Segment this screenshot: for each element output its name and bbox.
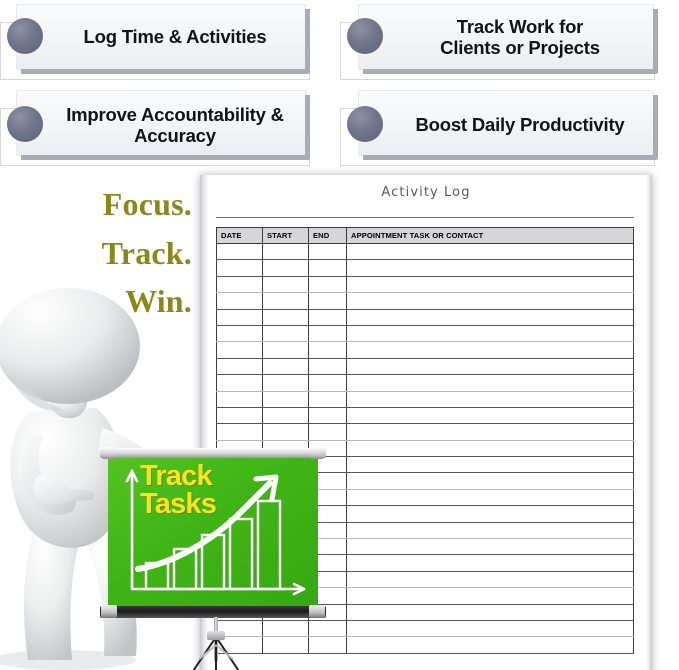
table-cell-date[interactable] — [217, 325, 263, 341]
table-cell-task[interactable] — [347, 588, 634, 604]
table-header-row: DATE START END APPOINTMENT TASK OR CONTA… — [217, 228, 634, 244]
table-cell-date[interactable] — [217, 342, 263, 358]
feature-card-log-time[interactable]: Log Time & Activities — [0, 0, 338, 85]
table-cell-date[interactable] — [217, 276, 263, 292]
activity-log-title: Activity Log — [200, 185, 652, 200]
table-cell-start[interactable] — [263, 358, 309, 374]
board-knob-right — [310, 447, 324, 459]
table-cell-date[interactable] — [217, 244, 263, 260]
table-cell-start[interactable] — [263, 375, 309, 391]
tripod-leg-center — [215, 637, 217, 670]
board-title-line1: Track — [140, 463, 316, 491]
table-cell-task[interactable] — [347, 358, 634, 374]
table-row[interactable] — [217, 342, 634, 358]
board-screen: Track Tasks — [108, 457, 318, 609]
table-cell-date[interactable] — [217, 358, 263, 374]
table-cell-date[interactable] — [217, 293, 263, 309]
table-cell-date[interactable] — [217, 407, 263, 423]
table-cell-task[interactable] — [347, 244, 634, 260]
table-row[interactable] — [217, 244, 634, 260]
table-cell-task[interactable] — [347, 424, 634, 440]
table-cell-task[interactable] — [347, 440, 634, 456]
tripod-brace-left — [215, 644, 233, 660]
table-row[interactable] — [217, 391, 634, 407]
tripod-stand — [196, 617, 236, 670]
table-row[interactable] — [217, 260, 634, 276]
table-cell-end[interactable] — [309, 293, 347, 309]
table-cell-task[interactable] — [347, 604, 634, 620]
table-cell-task[interactable] — [347, 309, 634, 325]
table-cell-date[interactable] — [217, 391, 263, 407]
table-cell-start[interactable] — [263, 244, 309, 260]
table-cell-end[interactable] — [309, 325, 347, 341]
feature-callout-grid: Log Time & Activities Track Work for Cli… — [0, 0, 679, 170]
column-header-task: APPOINTMENT TASK OR CONTACT — [347, 228, 634, 244]
table-cell-task[interactable] — [347, 276, 634, 292]
table-cell-start[interactable] — [263, 407, 309, 423]
bullet-circle-icon — [347, 106, 383, 142]
table-cell-date[interactable] — [217, 375, 263, 391]
column-header-date: DATE — [217, 228, 263, 244]
table-cell-task[interactable] — [347, 457, 634, 473]
bullet-circle-icon — [347, 18, 383, 54]
table-row[interactable] — [217, 358, 634, 374]
table-cell-end[interactable] — [309, 358, 347, 374]
table-cell-date[interactable] — [217, 309, 263, 325]
board-bottom-knob-right — [309, 605, 325, 618]
table-cell-start[interactable] — [263, 342, 309, 358]
table-row[interactable] — [217, 424, 634, 440]
feature-card-boost-productivity[interactable]: Boost Daily Productivity — [340, 86, 679, 170]
table-cell-task[interactable] — [347, 375, 634, 391]
feature-card-track-work[interactable]: Track Work for Clients or Projects — [340, 0, 679, 85]
table-cell-task[interactable] — [347, 489, 634, 505]
table-cell-task[interactable] — [347, 522, 634, 538]
slogan-line-focus: Focus. — [62, 180, 192, 229]
table-cell-date[interactable] — [217, 424, 263, 440]
slogan-line-track: Track. — [62, 229, 192, 278]
board-top-rail — [100, 448, 326, 458]
table-row[interactable] — [217, 293, 634, 309]
board-title-line2: Tasks — [140, 491, 316, 519]
slogan-block: Focus. Track. Win. — [62, 180, 192, 326]
table-cell-end[interactable] — [309, 342, 347, 358]
table-cell-date[interactable] — [217, 260, 263, 276]
table-cell-task[interactable] — [347, 391, 634, 407]
paper-right-edge — [646, 175, 652, 670]
feature-card-label: Boost Daily Productivity — [388, 88, 656, 162]
presentation-board[interactable]: Track Tasks — [100, 443, 326, 670]
feature-card-label: Log Time & Activities — [44, 0, 310, 74]
table-cell-start[interactable] — [263, 424, 309, 440]
table-cell-start[interactable] — [263, 293, 309, 309]
table-row[interactable] — [217, 309, 634, 325]
board-title: Track Tasks — [140, 463, 316, 519]
bullet-circle-icon — [7, 106, 43, 142]
table-cell-end[interactable] — [309, 424, 347, 440]
table-cell-end[interactable] — [309, 244, 347, 260]
feature-card-label: Improve Accountability & Accuracy — [44, 88, 310, 162]
table-cell-start[interactable] — [263, 325, 309, 341]
column-header-end: END — [309, 228, 347, 244]
table-row[interactable] — [217, 276, 634, 292]
table-cell-task[interactable] — [347, 407, 634, 423]
table-cell-task[interactable] — [347, 539, 634, 555]
tripod-hub — [207, 631, 225, 640]
table-cell-task[interactable] — [347, 325, 634, 341]
table-cell-task[interactable] — [347, 571, 634, 587]
slogan-line-win: Win. — [62, 277, 192, 326]
table-cell-start[interactable] — [263, 276, 309, 292]
table-cell-end[interactable] — [309, 276, 347, 292]
table-cell-task[interactable] — [347, 637, 634, 653]
table-cell-start[interactable] — [263, 391, 309, 407]
table-cell-start[interactable] — [263, 260, 309, 276]
table-cell-task[interactable] — [347, 293, 634, 309]
table-cell-end[interactable] — [309, 309, 347, 325]
board-bottom-knob-left — [101, 605, 117, 618]
board-knob-left — [102, 447, 116, 459]
table-cell-task[interactable] — [347, 473, 634, 489]
bullet-circle-icon — [7, 18, 43, 54]
table-cell-end[interactable] — [309, 375, 347, 391]
table-cell-task[interactable] — [347, 555, 634, 571]
table-cell-end[interactable] — [309, 391, 347, 407]
table-cell-task[interactable] — [347, 506, 634, 522]
table-cell-start[interactable] — [263, 309, 309, 325]
table-row[interactable] — [217, 375, 634, 391]
title-divider — [216, 217, 634, 218]
chart-bar-4 — [230, 519, 252, 589]
table-cell-task[interactable] — [347, 620, 634, 636]
table-row[interactable] — [217, 325, 634, 341]
table-cell-task[interactable] — [347, 342, 634, 358]
table-cell-end[interactable] — [309, 407, 347, 423]
feature-card-improve-accountability[interactable]: Improve Accountability & Accuracy — [0, 86, 338, 170]
table-row[interactable] — [217, 407, 634, 423]
column-header-start: START — [263, 228, 309, 244]
table-cell-end[interactable] — [309, 260, 347, 276]
table-cell-task[interactable] — [347, 260, 634, 276]
feature-card-label: Track Work for Clients or Projects — [388, 0, 656, 74]
